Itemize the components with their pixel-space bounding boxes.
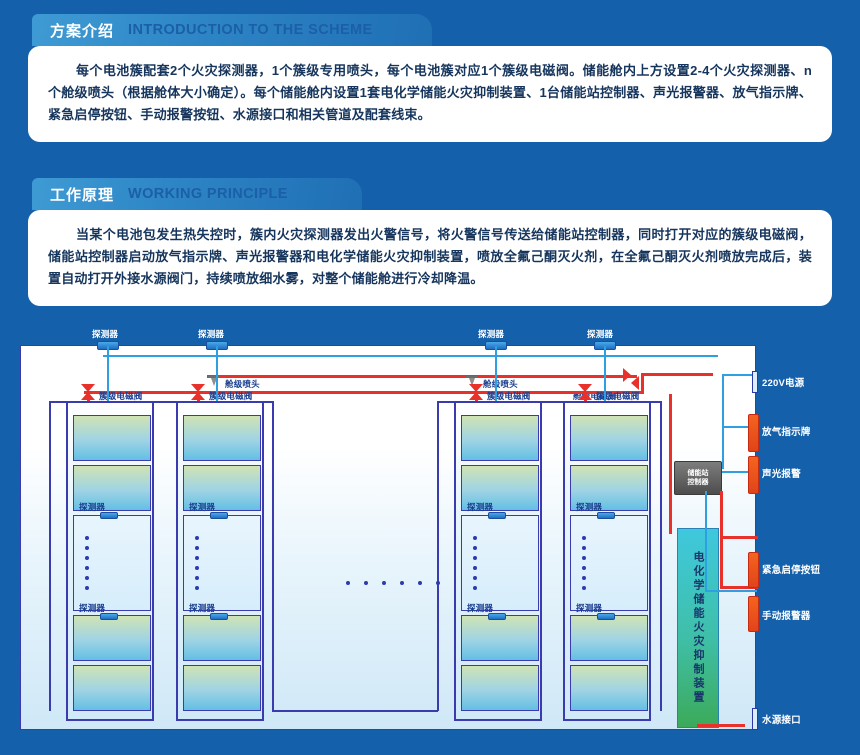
- rack-ellipsis-vertical-3: [473, 536, 477, 590]
- introduction-panel: 每个电池簇配套2个火灾探测器，1个簇级专用喷头，每个电池簇对应1个簇级电磁阀。储…: [28, 46, 832, 142]
- rack-detector-icon-2b: [210, 613, 228, 620]
- cabin-nozzle-header-pipe: [207, 375, 637, 378]
- section-introduction: 方案介绍 INTRODUCTION TO THE SCHEME 每个电池簇配套2…: [0, 14, 860, 142]
- cabin-nozzle-label-1: 舱级喷头: [225, 378, 260, 390]
- battery-module: [73, 615, 151, 661]
- cluster-supply-trunk-pipe: [84, 391, 644, 394]
- right-label-estop: 紧急启停按钮: [762, 562, 820, 576]
- cabinet-floor-center: [272, 710, 438, 712]
- ceiling-signal-bus: [103, 355, 718, 357]
- introduction-body-text: 每个电池簇配套2个火灾探测器，1个簇级专用喷头，每个电池簇对应1个簇级电磁阀。储…: [48, 60, 812, 126]
- suppression-branch-feed-1: [720, 536, 758, 539]
- fire-suppression-device-label: 电化学储能火灾抑制装置: [690, 551, 706, 705]
- tab-title-en: WORKING PRINCIPLE: [128, 186, 288, 202]
- battery-module: [570, 615, 648, 661]
- rack-detector-icon-3a: [488, 512, 506, 519]
- top-detector-label-2: 探测器: [198, 328, 224, 340]
- cabinet-frame-left-1: [49, 401, 51, 711]
- rack-detector-icon-4a: [597, 512, 615, 519]
- rack-ellipsis-vertical-4: [582, 536, 586, 590]
- battery-module: [461, 415, 539, 461]
- rack-detector-icon-2a: [210, 512, 228, 519]
- cabin-solenoid-valve-icon: [623, 368, 639, 382]
- diagram-canvas: 舱级喷头 舱级喷头 舱级电磁阀 簇级电磁阀 簇级喷头 簇级电磁阀 簇级喷头 簇级…: [20, 345, 756, 730]
- rack-detector-icon-1b: [100, 613, 118, 620]
- cluster-solenoid-valve-icon-3: [469, 384, 483, 400]
- system-diagram: 探测器 探测器 探测器 探测器 舱级喷头 舱级喷头 舱级电磁阀 簇级电磁: [0, 318, 860, 755]
- controller-label-line1: 储能站: [688, 469, 709, 478]
- rack-detector-icon-4b: [597, 613, 615, 620]
- working-principle-body-text: 当某个电池包发生热失控时，簇内火灾探测器发出火警信号，将火警信号传送给储能站控制…: [48, 224, 812, 290]
- energy-station-controller[interactable]: 储能站 控制器: [674, 461, 722, 495]
- water-source-pipe: [697, 724, 745, 727]
- battery-module: [183, 615, 261, 661]
- cluster-solenoid-valve-icon-4: [578, 384, 592, 400]
- section-header-tab-introduction: 方案介绍 INTRODUCTION TO THE SCHEME: [32, 14, 432, 46]
- right-label-water-source: 水源接口: [762, 712, 801, 726]
- top-detector-label-3: 探测器: [478, 328, 504, 340]
- tab-title-en: INTRODUCTION TO THE SCHEME: [128, 22, 373, 38]
- right-label-220v: 220V电源: [762, 375, 804, 389]
- right-label-alarm: 声光报警: [762, 466, 801, 480]
- manual-alarm-device[interactable]: [748, 596, 759, 632]
- gas-discharge-sign-device[interactable]: [748, 414, 759, 452]
- top-detector-label-4: 探测器: [587, 328, 613, 340]
- battery-rack-4: [563, 401, 651, 721]
- cabinet-frame-right-1: [272, 401, 274, 711]
- working-principle-panel: 当某个电池包发生热失控时，簇内火灾探测器发出火警信号，将火警信号传送给储能站控制…: [28, 210, 832, 306]
- battery-rack-2: [176, 401, 264, 721]
- cabin-valve-feed-pipe: [641, 373, 713, 376]
- suppression-riser-pipe: [669, 394, 672, 534]
- cabinet-frame-left-2: [437, 401, 439, 711]
- battery-module: [183, 665, 261, 711]
- tab-title-cn: 工作原理: [50, 184, 114, 205]
- battery-module: [570, 415, 648, 461]
- emergency-stop-button-device[interactable]: [748, 552, 759, 588]
- battery-module: [461, 615, 539, 661]
- battery-module: [461, 665, 539, 711]
- right-label-gas-sign: 放气指示牌: [762, 424, 811, 438]
- water-source-marker: [752, 708, 758, 730]
- battery-rack-3: [454, 401, 542, 721]
- power-220v-marker: [752, 371, 758, 393]
- cluster-solenoid-valve-icon-2: [191, 384, 205, 400]
- cabinet-frame-right-2: [660, 401, 662, 711]
- section-working-principle: 工作原理 WORKING PRINCIPLE 当某个电池包发生热失控时，簇内火灾…: [0, 178, 860, 306]
- rack-ellipsis-horizontal: [346, 581, 440, 585]
- cabin-nozzle-label-2: 舱级喷头: [483, 378, 518, 390]
- right-label-manual-alarm: 手动报警器: [762, 608, 811, 622]
- controller-label-line2: 控制器: [688, 478, 709, 487]
- controller-signal-estop-v: [705, 491, 707, 591]
- controller-signal-220v-h: [722, 374, 756, 376]
- top-detector-label-1: 探测器: [92, 328, 118, 340]
- suppression-branch-pipe-1: [720, 491, 723, 538]
- section-header-tab-working-principle: 工作原理 WORKING PRINCIPLE: [32, 178, 362, 210]
- rack-detector-icon-1a: [100, 512, 118, 519]
- rack-detector-icon-3b: [488, 613, 506, 620]
- controller-signal-220v: [722, 374, 724, 469]
- audible-visual-alarm-device[interactable]: [748, 456, 759, 494]
- cluster-solenoid-valve-icon-1: [81, 384, 95, 400]
- battery-module: [73, 415, 151, 461]
- rack-ellipsis-vertical-2: [195, 536, 199, 590]
- battery-module: [183, 415, 261, 461]
- tab-title-cn: 方案介绍: [50, 20, 114, 41]
- battery-module: [570, 665, 648, 711]
- battery-rack-1: [66, 401, 154, 721]
- battery-module: [73, 665, 151, 711]
- rack-ellipsis-vertical-1: [85, 536, 89, 590]
- cabin-valve-down-pipe: [641, 373, 644, 394]
- suppression-branch-pipe-2: [720, 538, 723, 589]
- fire-suppression-device: 电化学储能火灾抑制装置: [677, 528, 719, 728]
- controller-signal-estop-h: [705, 590, 757, 592]
